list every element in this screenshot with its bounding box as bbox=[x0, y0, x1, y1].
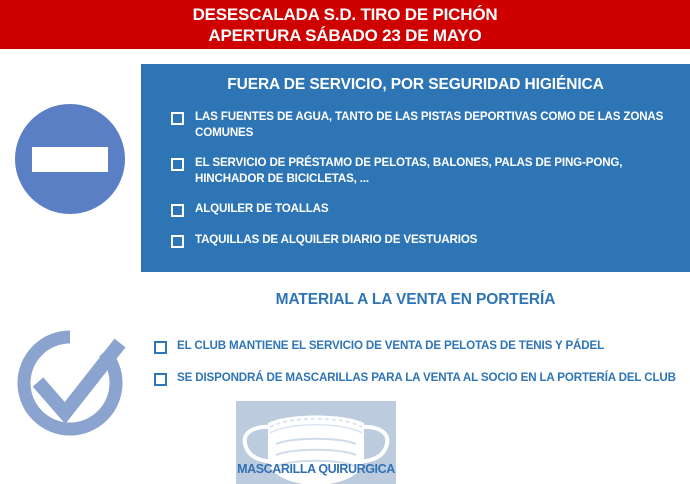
list-item-label: EL CLUB MANTIENE EL SERVICIO DE VENTA DE… bbox=[177, 338, 604, 354]
no-entry-icon bbox=[15, 104, 125, 214]
list-item: ALQUILER DE TOALLAS bbox=[153, 201, 678, 217]
list-item-label: ALQUILER DE TOALLAS bbox=[195, 201, 328, 217]
square-bullet-icon bbox=[154, 373, 167, 386]
square-bullet-icon bbox=[171, 112, 184, 125]
square-bullet-icon bbox=[171, 235, 184, 248]
list-item-label: LAS FUENTES DE AGUA, TANTO DE LAS PISTAS… bbox=[195, 109, 678, 141]
check-circle-icon bbox=[8, 325, 133, 445]
banner-line-1: DESESCALADA S.D. TIRO DE PICHÓN bbox=[193, 4, 498, 25]
square-bullet-icon bbox=[171, 204, 184, 217]
list-item: LAS FUENTES DE AGUA, TANTO DE LAS PISTAS… bbox=[153, 109, 678, 141]
for-sale-list: EL CLUB MANTIENE EL SERVICIO DE VENTA DE… bbox=[141, 338, 690, 402]
red-title-banner: DESESCALADA S.D. TIRO DE PICHÓN APERTURA… bbox=[0, 0, 690, 49]
list-item: TAQUILLAS DE ALQUILER DIARIO DE VESTUARI… bbox=[153, 232, 678, 248]
out-of-service-panel: FUERA DE SERVICIO, POR SEGURIDAD HIGIÉNI… bbox=[141, 64, 690, 272]
list-item-label: TAQUILLAS DE ALQUILER DIARIO DE VESTUARI… bbox=[195, 232, 477, 248]
list-item-label: SE DISPONDRÁ DE MASCARILLAS PARA LA VENT… bbox=[177, 370, 676, 386]
list-item-label: EL SERVICIO DE PRÉSTAMO DE PELOTAS, BALO… bbox=[195, 155, 678, 187]
square-bullet-icon bbox=[171, 158, 184, 171]
list-item: EL CLUB MANTIENE EL SERVICIO DE VENTA DE… bbox=[141, 338, 690, 354]
square-bullet-icon bbox=[154, 341, 167, 354]
list-item: SE DISPONDRÁ DE MASCARILLAS PARA LA VENT… bbox=[141, 370, 690, 386]
for-sale-title: MATERIAL A LA VENTA EN PORTERÍA bbox=[141, 291, 690, 309]
list-item: EL SERVICIO DE PRÉSTAMO DE PELOTAS, BALO… bbox=[153, 155, 678, 187]
mask-caption: MASCARILLA QUIRURGICA bbox=[236, 462, 396, 476]
banner-line-2: APERTURA SÁBADO 23 DE MAYO bbox=[208, 25, 481, 46]
out-of-service-title: FUERA DE SERVICIO, POR SEGURIDAD HIGIÉNI… bbox=[153, 75, 678, 95]
no-entry-bar bbox=[32, 147, 108, 172]
